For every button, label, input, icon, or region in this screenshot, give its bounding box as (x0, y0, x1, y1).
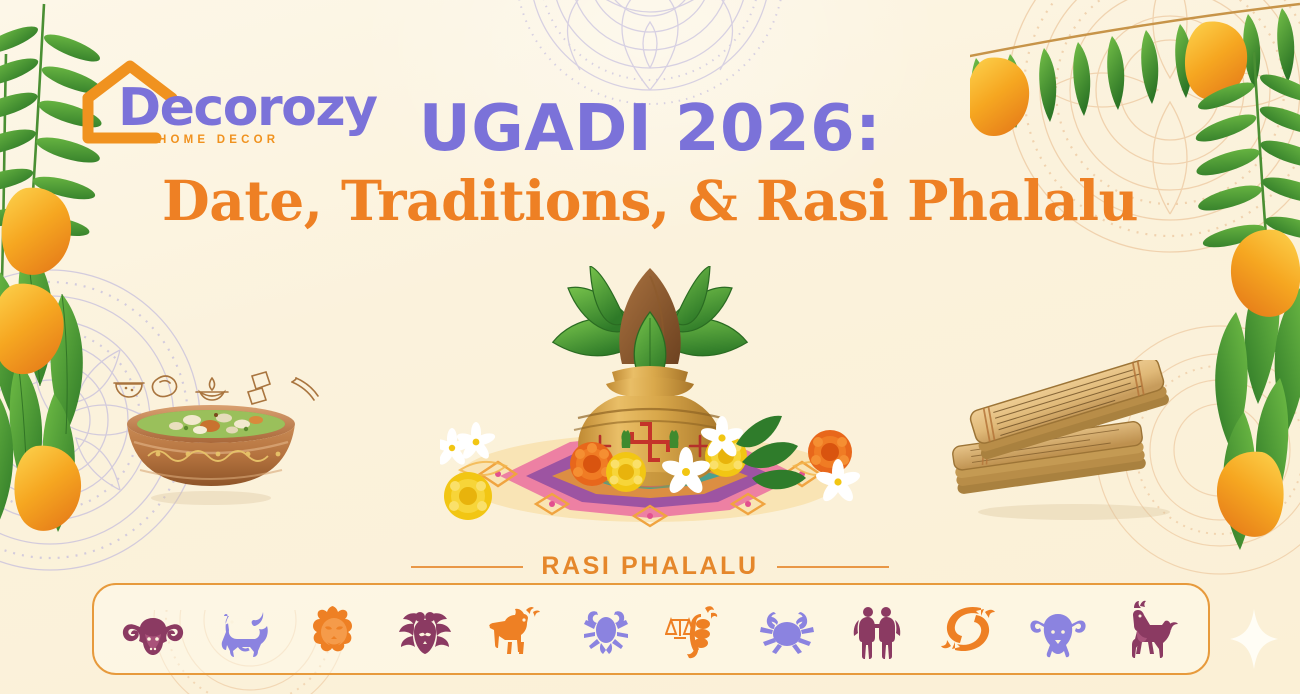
zodiac-sign-libra[interactable] (659, 595, 733, 663)
jasmine-flowers (440, 416, 860, 504)
heading-rule-right (777, 566, 889, 568)
zodiac-sign-virgo[interactable] (388, 595, 462, 663)
zodiac-sign-cancer[interactable] (750, 595, 824, 663)
zodiac-sign-aries-alt[interactable] (1021, 595, 1095, 663)
ugadi-banner: Decorozy HOME DECOR UGADI 2026: Date, Tr… (0, 0, 1300, 694)
scorpio-scorpion-icon (575, 598, 637, 660)
goat-icon (1118, 598, 1180, 660)
swastika-symbols (632, 424, 668, 460)
rasi-heading-text: RASI PHALALU (541, 552, 758, 581)
pot-leaf-motifs (621, 430, 678, 448)
kalash-pot (574, 366, 726, 488)
coconut (619, 268, 680, 364)
zodiac-sign-pisces[interactable] (931, 595, 1005, 663)
ram-head-icon (1027, 598, 1089, 660)
zodiac-sign-capricorn[interactable] (478, 595, 552, 663)
decorative-leaves (736, 416, 806, 490)
leo-lion-head-icon (303, 598, 365, 660)
marigold-flowers (444, 430, 852, 520)
cancer-crab-icon (756, 598, 818, 660)
capricorn-goat-icon (484, 598, 546, 660)
headline-block: UGADI 2026: Date, Traditions, & Rasi Pha… (0, 96, 1300, 232)
zodiac-sign-capricorn-alt[interactable] (1112, 595, 1186, 663)
page-title: UGADI 2026: (0, 96, 1300, 163)
zodiac-strip (92, 583, 1210, 675)
heading-rule-left (411, 566, 523, 568)
pisces-fish-icon (937, 598, 999, 660)
zodiac-sign-taurus[interactable] (207, 595, 281, 663)
zodiac-sign-gemini[interactable] (840, 595, 914, 663)
virgo-maiden-icon (394, 598, 456, 660)
mango-leaf-garland-right (1136, 0, 1300, 557)
page-subtitle: Date, Traditions, & Rasi Phalalu (0, 169, 1300, 232)
rasi-phalalu-heading: RASI PHALALU (0, 552, 1300, 581)
rangoli (458, 434, 842, 526)
zodiac-sign-scorpio[interactable] (569, 595, 643, 663)
sparkle-star-icon (1226, 605, 1282, 673)
aries-ram-head-icon (122, 598, 184, 660)
taurus-bull-icon (213, 598, 275, 660)
kalash-mango-leaves (551, 266, 749, 361)
libra-scales-icon (665, 598, 727, 660)
kalash-rangoli-artwork (440, 266, 860, 536)
zodiac-sign-leo[interactable] (297, 595, 371, 663)
gemini-twins-icon (846, 598, 908, 660)
zodiac-sign-aries[interactable] (116, 595, 190, 663)
